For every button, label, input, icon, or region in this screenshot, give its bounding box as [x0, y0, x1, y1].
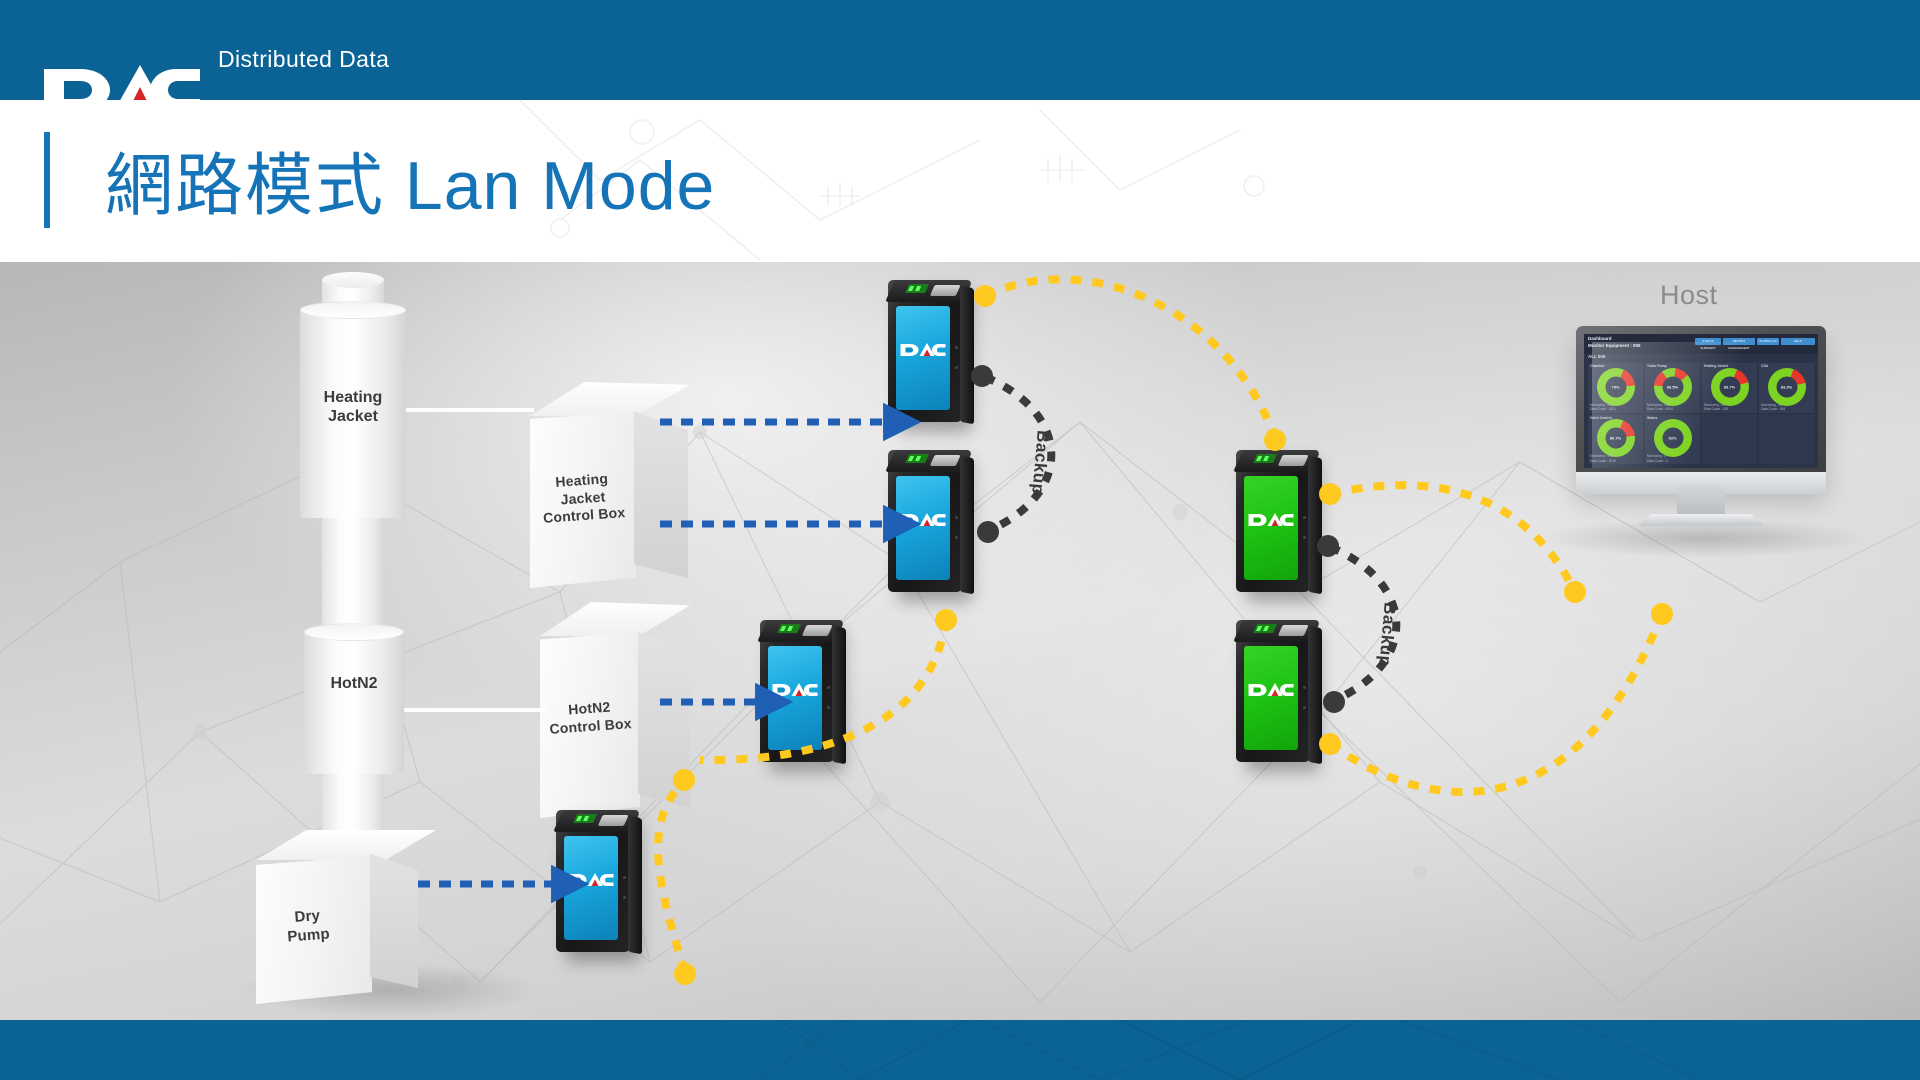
card-donut-chart: 83.7% — [1711, 368, 1749, 406]
title-band: 網路模式 Lan Mode — [0, 100, 1920, 262]
host-dashboard[interactable]: Dashboard Monitor Equipment : 006 ALL 00… — [1584, 334, 1818, 468]
card-percent: 83.3% — [1768, 384, 1806, 389]
dashboard-card[interactable]: Status 92% Monitoring : 0Data Count : 0 — [1645, 415, 1700, 465]
page-title-cjk: 網路模式 — [105, 148, 385, 224]
card-percent: 83.7% — [1711, 384, 1749, 389]
monitor-stand-base — [1638, 514, 1764, 526]
dashboard-card[interactable]: Turbo Pump 66.5% Monitoring : 006Data Co… — [1645, 363, 1700, 413]
page-title: 網路模式 Lan Mode — [105, 130, 715, 229]
dashboard-toolbar[interactable]: STATUS SUMMARY REPORT MANAGEMENT ALARM L… — [1695, 338, 1815, 345]
dashboard-group-label: ALL 006 — [1588, 354, 1605, 359]
card-donut-chart: 79% — [1597, 368, 1635, 406]
network-link-dac1-to-dac5 — [985, 279, 1275, 438]
card-donut-chart: 83.3% — [1768, 368, 1806, 406]
card-footer: Monitoring : 006Data Count : 0024 — [1647, 403, 1673, 412]
card-title: Chamber — [1590, 364, 1605, 368]
backup-label-1: Backup — [1028, 430, 1053, 496]
card-percent: 92% — [1654, 436, 1692, 441]
dashboard-card-empty — [1759, 415, 1814, 465]
dashboard-card[interactable]: Valve Control 80.7% Monitoring : 005Data… — [1588, 415, 1643, 465]
network-link-dac5-to-host — [1330, 485, 1575, 592]
dashboard-card[interactable]: Chamber 79% Monitoring : 005Data Count :… — [1588, 363, 1643, 413]
card-footer: Monitoring : 04Data Count : 008 — [1761, 403, 1785, 412]
network-endpoint-dots — [673, 285, 1673, 985]
monitor-screen[interactable]: Dashboard Monitor Equipment : 006 ALL 00… — [1584, 334, 1818, 468]
slide-root: Distributed Data Acqulisition Converter — [0, 0, 1920, 1080]
card-footer: Monitoring : 005Data Count : 0015 — [1590, 454, 1616, 463]
dashboard-button-alarm-log[interactable]: ALARM LOG — [1757, 338, 1779, 345]
brand-tagline-line1: Distributed Data — [218, 45, 451, 74]
network-link-group — [658, 279, 1662, 972]
backup-label-2: Backup — [1375, 602, 1400, 668]
card-percent: 66.5% — [1654, 384, 1692, 389]
backup-endpoint-dots — [971, 365, 1345, 713]
page-title-en: Lan Mode — [405, 148, 715, 224]
dashboard-button-status-summary[interactable]: STATUS SUMMARY — [1695, 338, 1721, 345]
network-link-dac2-to-dac3 — [700, 620, 946, 760]
dashboard-card[interactable]: Heating Jacket 83.7% Monitoring : 06Data… — [1702, 363, 1757, 413]
dashboard-card-grid: Chamber 79% Monitoring : 005Data Count :… — [1588, 363, 1814, 464]
monitor-stand-neck — [1677, 486, 1725, 516]
card-title: Turbo Pump — [1647, 364, 1667, 368]
diagram-stage: HeatingJacket HotN2 DryPump HeatingJacke… — [0, 262, 1920, 1020]
card-title: Status — [1647, 416, 1657, 420]
network-link-dac4-to-dac3 — [658, 782, 685, 972]
dashboard-button-report-management[interactable]: REPORT MANAGEMENT — [1723, 338, 1755, 345]
card-donut-chart: 66.5% — [1654, 368, 1692, 406]
dashboard-title: Dashboard Monitor Equipment : 006 — [1588, 336, 1641, 349]
monitor-bezel: Dashboard Monitor Equipment : 006 ALL 00… — [1576, 326, 1826, 486]
card-footer: Monitoring : 0Data Count : 0 — [1647, 454, 1668, 463]
card-footer: Monitoring : 005Data Count : 0021 — [1590, 403, 1616, 412]
card-donut-chart: 80.7% — [1597, 419, 1635, 457]
card-percent: 80.7% — [1597, 436, 1635, 441]
footer-background-decoration — [0, 1020, 1920, 1080]
page-header: Distributed Data Acqulisition Converter — [0, 0, 1920, 100]
card-donut-chart: 92% — [1654, 419, 1692, 457]
card-percent: 79% — [1597, 384, 1635, 389]
card-footer: Monitoring : 06Data Count : 015 — [1704, 403, 1728, 412]
dashboard-card-empty — [1702, 415, 1757, 465]
equipment-wire-group — [404, 410, 546, 710]
page-footer — [0, 1020, 1920, 1080]
title-accent-bar — [44, 132, 50, 228]
host-label: Host — [1660, 280, 1718, 311]
card-title: Valve Control — [1590, 416, 1612, 420]
dashboard-card[interactable]: CDA 83.3% Monitoring : 04Data Count : 00… — [1759, 363, 1814, 413]
dashboard-button-help[interactable]: HELP — [1781, 338, 1815, 345]
card-title: CDA — [1761, 364, 1768, 368]
